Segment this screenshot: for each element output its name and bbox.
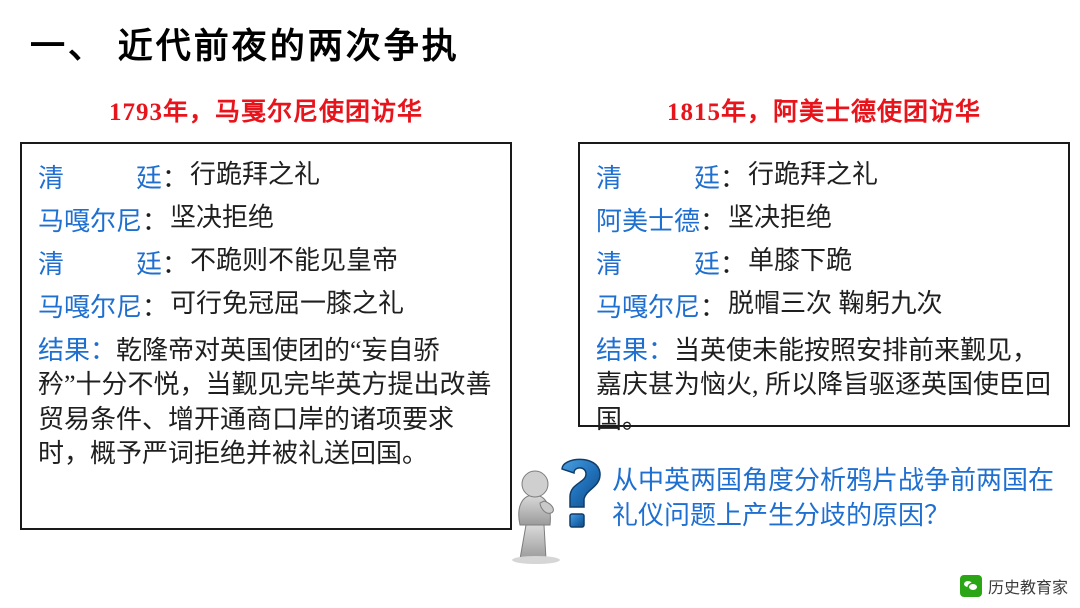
question-text: 从中英两国角度分析鸦片战争前两国在礼仪问题上产生分歧的原因？ [612, 455, 1060, 533]
dialog-row: 马嘎尔尼 ： 可行免冠屈一膝之礼 [38, 287, 494, 324]
speaker-label: 马嘎尔尼 [38, 201, 142, 238]
wechat-icon [960, 575, 982, 597]
thinker-svg [500, 455, 612, 565]
result-label: 结果： [38, 336, 116, 365]
watermark: 历史教育家 [960, 574, 1068, 598]
speaker-label: 马嘎尔尼 [596, 287, 700, 324]
column-left-heading: 1793年，马戛尔尼使团访华 [20, 92, 512, 128]
page-title: 一、 近代前夜的两次争执 [30, 18, 460, 69]
column-left-box: 清廷 ： 行跪拜之礼 马嘎尔尼 ： 坚决拒绝 清廷 ： 不跪则不能见皇帝 马嘎尔… [20, 142, 512, 530]
dialog-text: 坚决拒绝 [170, 201, 494, 234]
speaker-label: 清廷 [596, 244, 720, 281]
result-label: 结果： [596, 336, 674, 365]
column-right-heading: 1815年，阿美士德使团访华 [578, 92, 1070, 128]
dialog-row: 清廷 ： 单膝下跪 [596, 244, 1052, 281]
speaker-label: 清廷 [38, 244, 162, 281]
colon-separator: ： [720, 158, 748, 195]
slide-canvas: 一、 近代前夜的两次争执 1793年，马戛尔尼使团访华 清廷 ： 行跪拜之礼 马… [0, 0, 1080, 608]
dialog-row: 阿美士德 ： 坚决拒绝 [596, 201, 1052, 238]
speaker-label: 马嘎尔尼 [38, 287, 142, 324]
dialog-text: 行跪拜之礼 [190, 158, 494, 191]
dialog-text: 可行免冠屈一膝之礼 [170, 287, 494, 320]
colon-separator: ： [700, 287, 728, 324]
question-block: 从中英两国角度分析鸦片战争前两国在礼仪问题上产生分歧的原因？ [500, 455, 1060, 565]
colon-separator: ： [162, 244, 190, 281]
column-right: 1815年，阿美士德使团访华 清廷 ： 行跪拜之礼 阿美士德 ： 坚决拒绝 清廷… [578, 92, 1070, 427]
colon-separator: ： [720, 244, 748, 281]
dialog-row: 马嘎尔尼 ： 脱帽三次 鞠躬九次 [596, 287, 1052, 324]
dialog-row: 清廷 ： 不跪则不能见皇帝 [38, 244, 494, 281]
speaker-label: 阿美士德 [596, 201, 700, 238]
result-paragraph: 结果：乾隆帝对英国使团的“妄自骄矜”十分不悦，当觐见完毕英方提出改善贸易条件、增… [38, 330, 494, 471]
colon-separator: ： [142, 201, 170, 238]
speaker-label: 清廷 [596, 158, 720, 195]
speaker-label: 清廷 [38, 158, 162, 195]
dialog-text: 行跪拜之礼 [748, 158, 1052, 191]
colon-separator: ： [162, 158, 190, 195]
dialog-text: 单膝下跪 [748, 244, 1052, 277]
thinking-person-question-mark-icon [500, 455, 612, 565]
column-left: 1793年，马戛尔尼使团访华 清廷 ： 行跪拜之礼 马嘎尔尼 ： 坚决拒绝 清廷… [20, 92, 512, 530]
result-paragraph: 结果：当英使未能按照安排前来觐见，嘉庆甚为恼火, 所以降旨驱逐英国使臣回国。 [596, 330, 1052, 437]
dialog-row: 清廷 ： 行跪拜之礼 [596, 158, 1052, 195]
colon-separator: ： [142, 287, 170, 324]
column-right-box: 清廷 ： 行跪拜之礼 阿美士德 ： 坚决拒绝 清廷 ： 单膝下跪 马嘎尔尼 ： … [578, 142, 1070, 427]
dialog-row: 清廷 ： 行跪拜之礼 [38, 158, 494, 195]
dialog-text: 不跪则不能见皇帝 [190, 244, 494, 277]
dialog-row: 马嘎尔尼 ： 坚决拒绝 [38, 201, 494, 238]
watermark-text: 历史教育家 [988, 574, 1068, 598]
dialog-text: 脱帽三次 鞠躬九次 [728, 287, 1052, 320]
dialog-text: 坚决拒绝 [728, 201, 1052, 234]
colon-separator: ： [700, 201, 728, 238]
